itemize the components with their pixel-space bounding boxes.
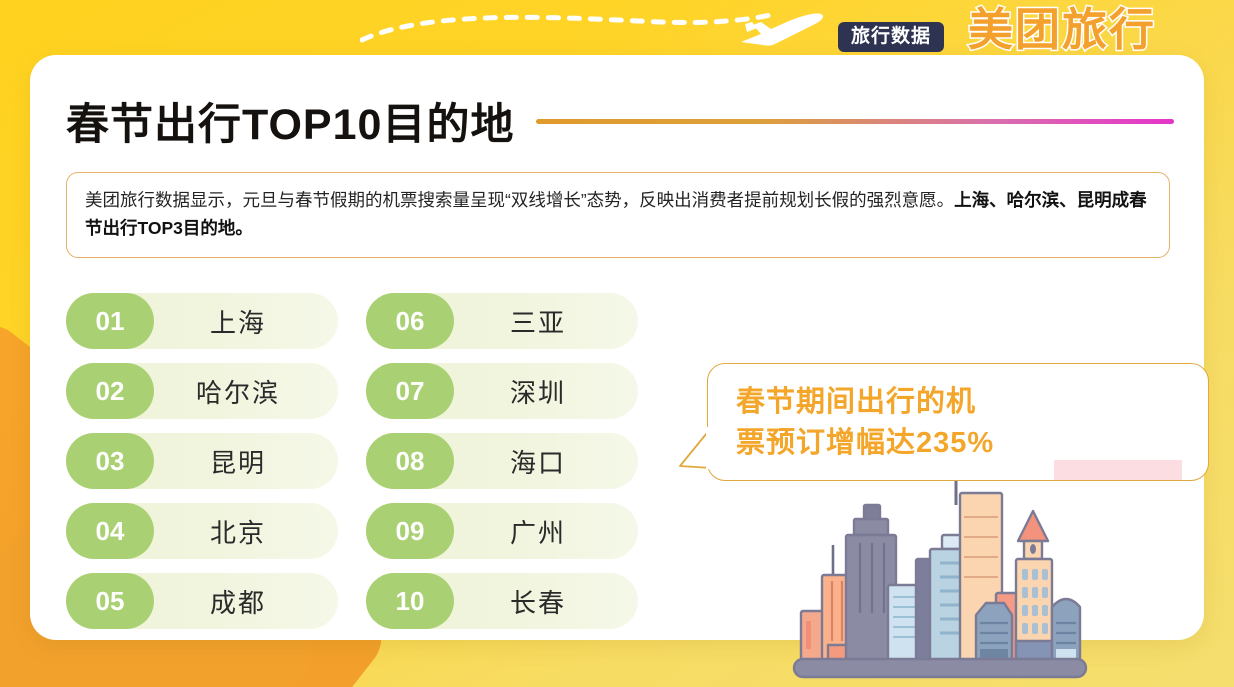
rank-badge: 02 (66, 363, 154, 419)
city-name: 哈尔滨 (154, 373, 338, 410)
rank-badge: 03 (66, 433, 154, 489)
dashed-flight-path-icon (360, 0, 780, 50)
ranking-list: 01 上海 02 哈尔滨 03 昆明 04 北京 05 成都 (66, 293, 638, 629)
city-name: 昆明 (154, 443, 338, 480)
header-band: 旅行数据 美团旅行 美团旅行 (0, 0, 1234, 56)
city-name: 长春 (454, 583, 638, 620)
rank-badge: 04 (66, 503, 154, 559)
infographic-canvas: 旅行数据 美团旅行 美团旅行 春节出行TOP10目的地 美团旅行数据显示，元旦与… (0, 0, 1234, 687)
airplane-icon (735, 8, 825, 50)
rank-badge: 05 (66, 573, 154, 629)
travel-data-badge: 旅行数据 (838, 22, 944, 52)
list-item[interactable]: 09 广州 (366, 503, 638, 559)
page-title: 春节出行TOP10目的地 (66, 90, 514, 152)
city-name: 三亚 (454, 303, 638, 340)
city-skyline-illustration (790, 453, 1090, 685)
meituan-travel-logo: 美团旅行 (968, 4, 1156, 56)
callout-text: 春节期间出行的机 票预订增幅达235% (736, 382, 1186, 464)
list-item[interactable]: 05 成都 (66, 573, 338, 629)
city-name: 深圳 (454, 373, 638, 410)
list-item[interactable]: 10 长春 (366, 573, 638, 629)
rank-badge: 06 (366, 293, 454, 349)
city-name: 北京 (154, 513, 338, 550)
rank-badge: 01 (66, 293, 154, 349)
callout-tail-icon (678, 426, 712, 470)
rank-badge: 08 (366, 433, 454, 489)
list-item[interactable]: 03 昆明 (66, 433, 338, 489)
list-item[interactable]: 02 哈尔滨 (66, 363, 338, 419)
ranking-column-right: 06 三亚 07 深圳 08 海口 09 广州 10 长春 (366, 293, 638, 629)
city-name: 成都 (154, 583, 338, 620)
list-item[interactable]: 06 三亚 (366, 293, 638, 349)
callout-line-1: 春节期间出行的机 (736, 382, 1186, 423)
city-name: 上海 (154, 303, 338, 340)
list-item[interactable]: 01 上海 (66, 293, 338, 349)
title-row: 春节出行TOP10目的地 (66, 90, 1174, 152)
description-box: 美团旅行数据显示，元旦与春节假期的机票搜索量呈现“双线增长”态势，反映出消费者提… (66, 172, 1170, 258)
rank-badge: 09 (366, 503, 454, 559)
rank-badge: 10 (366, 573, 454, 629)
callout-line-2: 票预订增幅达235% (736, 423, 1186, 464)
title-divider-rule (536, 119, 1174, 124)
city-name: 广州 (454, 513, 638, 550)
statistic-callout: 春节期间出行的机 票预订增幅达235% (707, 363, 1209, 481)
city-name: 海口 (454, 443, 638, 480)
list-item[interactable]: 07 深圳 (366, 363, 638, 419)
rank-badge: 07 (366, 363, 454, 419)
description-text: 美团旅行数据显示，元旦与春节假期的机票搜索量呈现“双线增长”态势，反映出消费者提… (85, 190, 954, 210)
ranking-column-left: 01 上海 02 哈尔滨 03 昆明 04 北京 05 成都 (66, 293, 338, 629)
list-item[interactable]: 08 海口 (366, 433, 638, 489)
list-item[interactable]: 04 北京 (66, 503, 338, 559)
content-card: 春节出行TOP10目的地 美团旅行数据显示，元旦与春节假期的机票搜索量呈现“双线… (30, 55, 1204, 640)
